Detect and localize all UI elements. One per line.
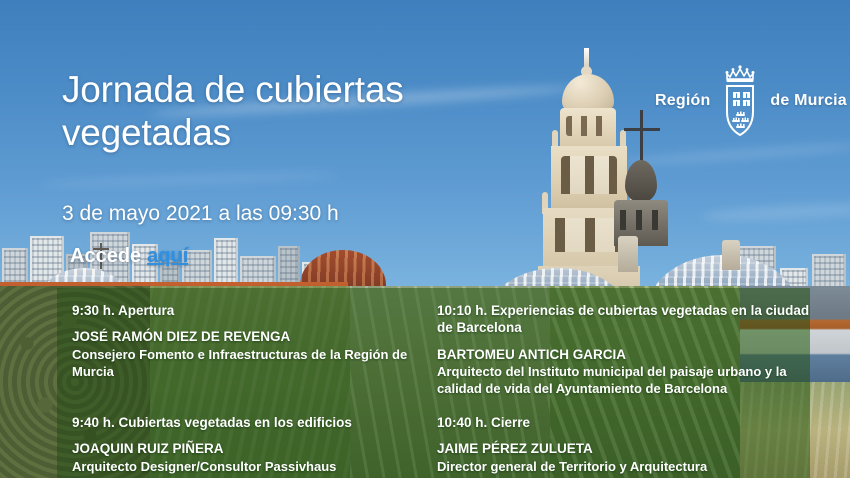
page-title: Jornada de cubiertas vegetadas [62, 68, 532, 155]
schedule-time: 9:30 h. Apertura [72, 302, 432, 319]
schedule-role: Consejero Fomento e Infraestructuras de … [72, 346, 432, 380]
murcia-coat-of-arms-icon [719, 62, 761, 140]
schedule-speaker: BARTOMEU ANTICH GARCIA [437, 346, 817, 364]
schedule-speaker: JOSÉ RAMÓN DIEZ DE REVENGA [72, 328, 432, 346]
region-de-murcia-logo: Región [655, 62, 847, 140]
logo-word-de-murcia: de Murcia [770, 92, 847, 110]
logo-word-region: Región [655, 92, 710, 110]
access-label: Accede [70, 245, 141, 268]
schedule-column-right: 10:10 h. Experiencias de cubiertas veget… [437, 302, 817, 415]
schedule-speaker: JOAQUIN RUIZ PIÑERA [72, 440, 352, 458]
access-line: Accede aquí [70, 245, 188, 268]
turret [618, 236, 638, 272]
schedule-role: Arquitecto del Instituto municipal del p… [437, 363, 817, 397]
schedule-time: 10:10 h. Experiencias de cubiertas veget… [437, 302, 817, 337]
schedule-item: 10:40 h. Cierre JAIME PÉREZ ZULUETA Dire… [437, 414, 707, 475]
schedule-item: 10:10 h. Experiencias de cubiertas veget… [437, 302, 817, 397]
event-poster: Jornada de cubiertas vegetadas 3 de mayo… [0, 0, 850, 478]
schedule-speaker: JAIME PÉREZ ZULUETA [437, 440, 707, 458]
turret [722, 240, 740, 270]
schedule-role: Arquitecto Designer/Consultor Passivhaus [72, 458, 352, 475]
schedule-time: 9:40 h. Cubiertas vegetadas en los edifi… [72, 414, 352, 431]
schedule-item: 9:30 h. Apertura JOSÉ RAMÓN DIEZ DE REVE… [72, 302, 432, 380]
event-date: 3 de mayo 2021 a las 09:30 h [62, 202, 339, 226]
schedule-time: 10:40 h. Cierre [437, 414, 707, 431]
schedule-column-left: 9:30 h. Apertura JOSÉ RAMÓN DIEZ DE REVE… [72, 302, 432, 398]
access-link[interactable]: aquí [147, 245, 188, 268]
schedule-item: 9:40 h. Cubiertas vegetadas en los edifi… [72, 414, 352, 475]
schedule-role: Director general de Territorio y Arquite… [437, 458, 707, 475]
